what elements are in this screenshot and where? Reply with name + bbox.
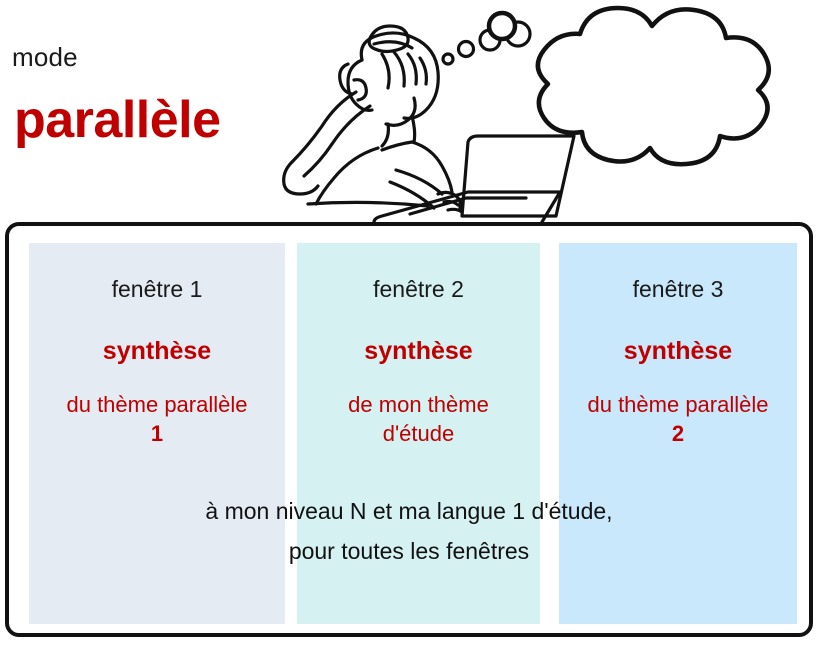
panel-2-heading: synthèse [297, 339, 540, 364]
panel-fenetre-2[interactable]: fenêtre 2 synthèse de mon thème d'étude [297, 243, 540, 624]
panel-1-subtitle: du thème parallèle 1 [29, 391, 285, 448]
panel-1-sub-line-2: 1 [29, 420, 285, 449]
panel-3-title: fenêtre 3 [559, 278, 797, 301]
panel-2-sub-line-1: de mon thème [297, 391, 540, 420]
thought-bubble: j'apprends mieux par comparaison [430, 0, 829, 175]
panel-fenetre-1[interactable]: fenêtre 1 synthèse du thème parallèle 1 [29, 243, 285, 624]
mode-label: mode [12, 44, 78, 70]
panel-2-sub-line-2: d'étude [297, 420, 540, 449]
panel-3-sub-line-1: du thème parallèle [559, 391, 797, 420]
panel-3-heading: synthèse [559, 339, 797, 364]
panel-fenetre-3[interactable]: fenêtre 3 synthèse du thème parallèle 2 [559, 243, 797, 624]
mode-title: parallèle [14, 94, 221, 146]
windows-container: fenêtre 1 synthèse du thème parallèle 1 … [5, 222, 813, 637]
header-zone: mode parallèle [0, 0, 829, 222]
panels-row: fenêtre 1 synthèse du thème parallèle 1 … [9, 226, 809, 633]
panel-3-subtitle: du thème parallèle 2 [559, 391, 797, 448]
panel-1-title: fenêtre 1 [29, 278, 285, 301]
panel-2-subtitle: de mon thème d'étude [297, 391, 540, 448]
panel-1-heading: synthèse [29, 339, 285, 364]
panel-2-title: fenêtre 2 [297, 278, 540, 301]
panel-1-sub-line-1: du thème parallèle [29, 391, 285, 420]
panel-3-sub-line-2: 2 [559, 420, 797, 449]
